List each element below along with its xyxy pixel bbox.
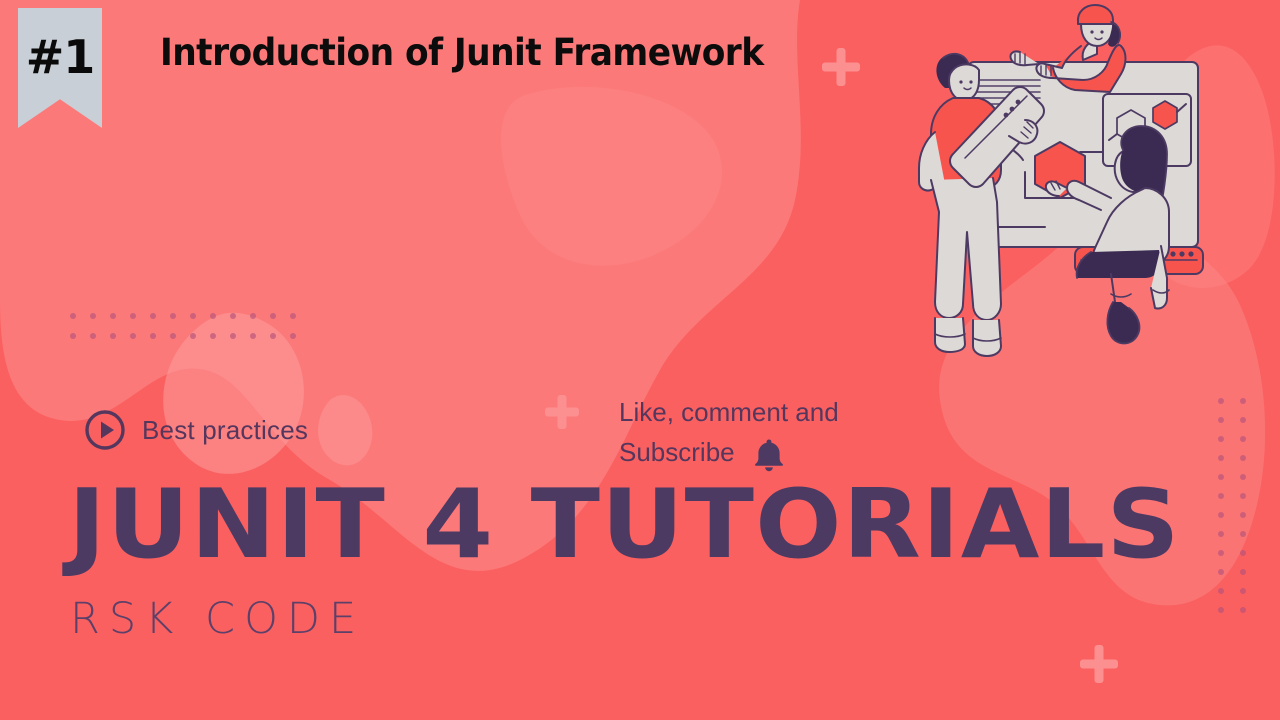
subscribe-line-2: Subscribe — [619, 434, 735, 471]
dot-grid-right — [1218, 398, 1262, 626]
plus-decoration-middle — [545, 395, 579, 429]
episode-title: Introduction of Junit Framework — [160, 31, 764, 74]
page-title: JUNIT 4 TUTORIALS — [68, 478, 1181, 573]
best-practices-callout: Best practices — [84, 409, 308, 451]
best-practices-label: Best practices — [142, 415, 308, 446]
channel-subtitle: RSK CODE — [70, 594, 365, 644]
team-collaboration-illustration — [905, 2, 1255, 377]
play-circle-icon — [84, 409, 126, 451]
dot-grid-left — [70, 313, 310, 353]
bell-icon — [749, 431, 789, 474]
subscribe-line-1: Like, comment and — [619, 394, 839, 431]
video-thumbnail-canvas: #1 Introduction of Junit Framework Best … — [0, 0, 1280, 720]
plus-decoration-top — [822, 48, 860, 86]
episode-number-label: #1 — [26, 30, 95, 84]
subscribe-callout: Like, comment and Subscribe — [619, 394, 839, 474]
plus-decoration-bottom — [1080, 645, 1118, 683]
